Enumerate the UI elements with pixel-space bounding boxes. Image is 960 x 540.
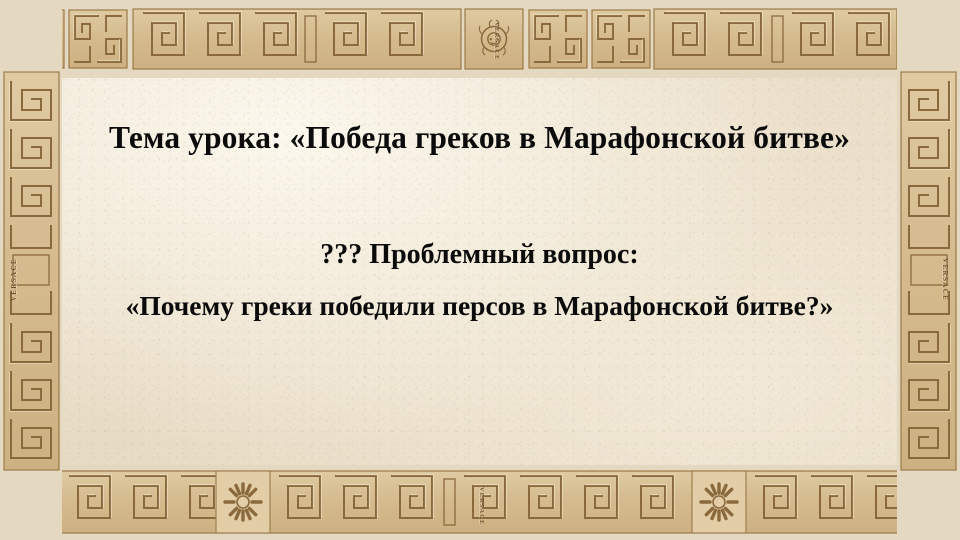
brand-label-top: VERSACE [493,22,499,60]
greek-key-pattern-icon [0,0,960,78]
brand-label-right: VERSACE [941,258,949,301]
border-band-top [0,0,960,78]
brand-label-bottom: VERSACE [478,487,484,525]
greek-key-pattern-icon [897,0,960,540]
problem-question-text: «Почему греки победили персов в Марафонс… [62,288,897,324]
border-band-right [897,0,960,540]
slide-content-area: Тема урока: «Победа греков в Марафонской… [62,78,897,465]
rosette-sunburst-medallion-icon [692,471,746,533]
brand-label-left: VERSACE [10,258,18,301]
slide-title: Тема урока: «Победа греков в Марафонской… [62,118,897,158]
problem-question-lead: ??? Проблемный вопрос: [62,237,897,272]
rosette-sunburst-medallion-icon [216,471,270,533]
slide-canvas: VERSACE VERSACE VERSACE VERSACE Тема уро… [0,0,960,540]
